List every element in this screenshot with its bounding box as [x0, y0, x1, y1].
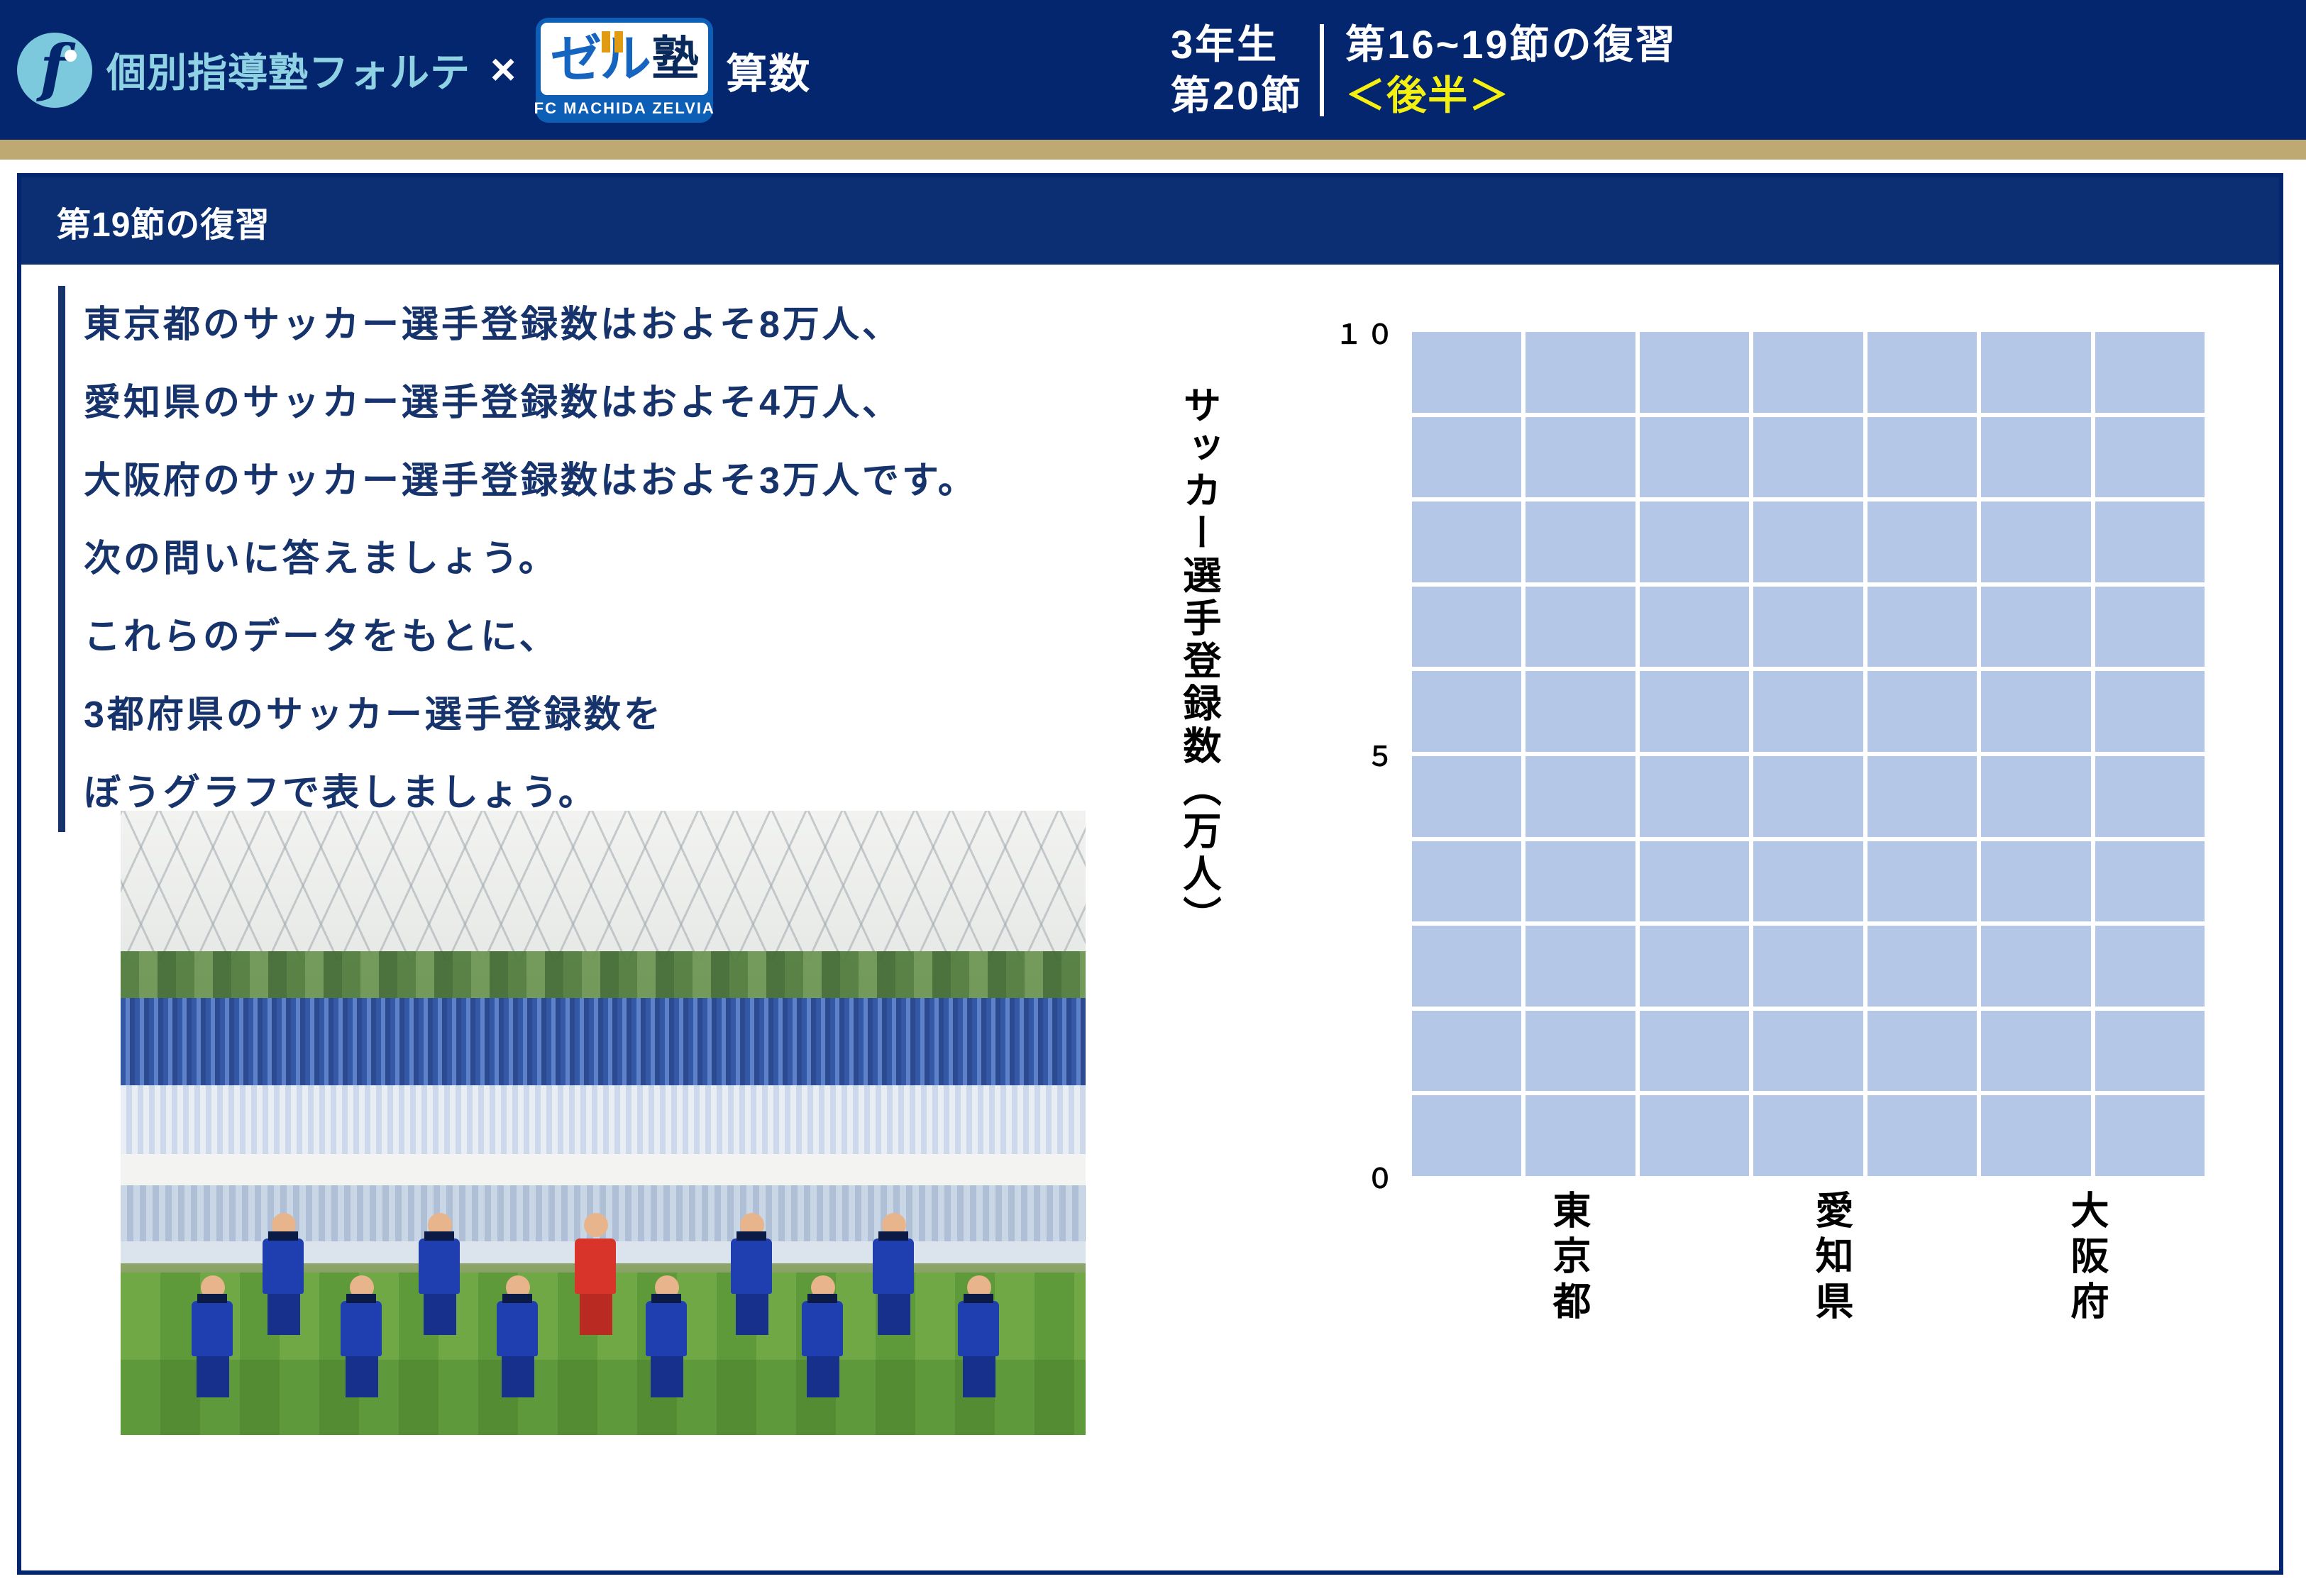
lesson-title: 第16~19節の復習	[1345, 19, 1677, 70]
grid-cell[interactable]	[1981, 671, 2090, 752]
photo-jersey-sponsor	[197, 1294, 227, 1303]
header-title-area: 3年生 第20節 第16~19節の復習 ＜後半＞	[1171, 0, 2306, 140]
grid-cell[interactable]	[1753, 671, 1863, 752]
grid-cell[interactable]	[1753, 841, 1863, 922]
grid-cell[interactable]	[1753, 332, 1863, 413]
photo-pitch-grass-foreground	[121, 1360, 1086, 1435]
photo-player-shorts	[736, 1294, 768, 1335]
grid-cell[interactable]	[1526, 756, 1635, 837]
grid-cell[interactable]	[1868, 501, 1977, 582]
grid-cell[interactable]	[1981, 756, 2090, 837]
photo-goalkeeper	[575, 1213, 617, 1335]
photo-player-jersey	[341, 1301, 382, 1356]
grid-cell[interactable]	[2095, 417, 2205, 498]
photo-player-jersey	[646, 1301, 687, 1356]
photo-player-shorts	[346, 1356, 378, 1397]
grid-cell[interactable]	[2095, 926, 2205, 1007]
grid-cell[interactable]	[1640, 1011, 1749, 1092]
lesson-subtitle: ＜後半＞	[1345, 70, 1677, 121]
subject-label: 算数	[726, 40, 811, 100]
grid-cell[interactable]	[1753, 1011, 1863, 1092]
photo-player-jersey	[497, 1301, 538, 1356]
zelvia-jyuku-text: 塾	[652, 35, 699, 82]
grid-cell[interactable]	[2095, 841, 2205, 922]
photo-player-jersey	[263, 1238, 304, 1294]
grid-cell[interactable]	[1981, 1011, 2090, 1092]
zelvia-kana-text: ゼル	[551, 33, 650, 84]
y-tick-label: １０	[1298, 313, 1398, 352]
grid-cell[interactable]	[1526, 587, 1635, 667]
photo-trees	[121, 951, 1086, 1001]
photo-player-shorts	[878, 1294, 910, 1335]
zelvia-logo: ゼル 塾 FC MACHIDA ZELVIA	[536, 18, 713, 123]
grid-cell[interactable]	[1640, 1095, 1749, 1176]
photo-jersey-sponsor	[807, 1294, 837, 1303]
section-label: 第20節	[1171, 70, 1303, 121]
left-column: 東京都のサッカー選手登録数はおよそ8万人、 愛知県のサッカー選手登録数はおよそ4…	[21, 265, 1128, 1570]
grid-cell[interactable]	[1981, 501, 2090, 582]
photo-jersey-sponsor	[346, 1294, 376, 1303]
grid-cell[interactable]	[1981, 587, 2090, 667]
photo-player-standing	[731, 1213, 773, 1335]
grade-section-block: 3年生 第20節	[1171, 19, 1320, 121]
photo-player-kneeling	[341, 1275, 383, 1397]
problem-text-line: 大阪府のサッカー選手登録数はおよそ3万人です。	[84, 442, 1108, 520]
photo-player-head	[584, 1213, 608, 1237]
card-title-bar: 第19節の復習	[21, 177, 2279, 265]
photo-player-kneeling	[646, 1275, 688, 1397]
photo-player-jersey	[575, 1238, 616, 1294]
photo-player-kneeling	[192, 1275, 234, 1397]
grid-cell[interactable]	[2095, 1095, 2205, 1176]
app-header: f 個別指導塾フォルテ × ゼル 塾 FC MACHIDA ZELVIA 算数 …	[0, 0, 2306, 140]
grid-cell[interactable]	[1412, 332, 1521, 413]
grid-cell[interactable]	[1868, 926, 1977, 1007]
grid-cell[interactable]	[1412, 1011, 1521, 1092]
grid-cell[interactable]	[2095, 501, 2205, 582]
grid-cell[interactable]	[1412, 926, 1521, 1007]
chart-x-axis-labels: 東京都 愛知県 大阪府	[1412, 1190, 2205, 1488]
photo-player-jersey	[731, 1238, 772, 1294]
grid-cell[interactable]	[1753, 417, 1863, 498]
photo-player-kneeling	[497, 1275, 539, 1397]
forte-f-glyph: f	[40, 36, 67, 99]
grid-cell[interactable]	[1412, 1095, 1521, 1176]
grid-cell[interactable]	[1753, 926, 1863, 1007]
zelvia-accent-tick-2	[614, 31, 623, 52]
grid-cell[interactable]	[1412, 756, 1521, 837]
chart-y-axis-label: サッカー選手登録数（万人）	[1149, 385, 1218, 938]
grid-cell[interactable]	[1640, 756, 1749, 837]
grid-cell[interactable]	[1640, 587, 1749, 667]
problem-text-line: これらのデータをもとに、	[84, 598, 1108, 676]
photo-jersey-sponsor	[424, 1231, 454, 1241]
photo-player-kneeling	[958, 1275, 1000, 1397]
grid-cell[interactable]	[1640, 332, 1749, 413]
grid-cell[interactable]	[1526, 926, 1635, 1007]
grid-cell[interactable]	[2095, 332, 2205, 413]
grid-cell[interactable]	[1868, 841, 1977, 922]
forte-dot-icon	[65, 50, 77, 62]
problem-text-line: 次の問いに答えましょう。	[84, 520, 1108, 598]
photo-jersey-sponsor	[737, 1231, 766, 1241]
grid-cell[interactable]	[1526, 332, 1635, 413]
grid-cell[interactable]	[1868, 1095, 1977, 1176]
lesson-title-block: 第16~19節の復習 ＜後半＞	[1345, 19, 1677, 121]
photo-player-standing	[263, 1213, 305, 1335]
photo-stadium-roof	[121, 811, 1086, 960]
grid-cell[interactable]	[2095, 756, 2205, 837]
grid-cell[interactable]	[1868, 417, 1977, 498]
problem-text-line: 愛知県のサッカー選手登録数はおよそ4万人、	[84, 364, 1108, 442]
photo-player-jersey	[419, 1238, 460, 1294]
x-tick-label: 大阪府	[2067, 1190, 2105, 1326]
grid-cell[interactable]	[1981, 1095, 2090, 1176]
photo-player-standing	[873, 1213, 915, 1335]
photo-player-shorts	[963, 1356, 995, 1397]
problem-text-line: 3都府県のサッカー選手登録数を	[84, 676, 1108, 754]
photo-jersey-sponsor	[651, 1294, 681, 1303]
grid-cell[interactable]	[1640, 417, 1749, 498]
x-tick-label: 東京都	[1549, 1190, 1587, 1326]
photo-player-shorts	[580, 1294, 612, 1335]
photo-player-shorts	[502, 1356, 534, 1397]
grid-cell[interactable]	[1640, 671, 1749, 752]
photo-player-kneeling	[802, 1275, 844, 1397]
chart-y-axis-ticks: １０ ５ ０	[1298, 265, 1398, 1570]
grid-cell[interactable]	[1412, 841, 1521, 922]
photo-player-jersey	[192, 1301, 233, 1356]
grade-label: 3年生	[1171, 19, 1303, 70]
photo-player-shorts	[267, 1294, 300, 1335]
zelvia-caption: FC MACHIDA ZELVIA	[534, 95, 715, 122]
photo-player-standing	[419, 1213, 461, 1335]
gold-accent-stripe	[0, 140, 2306, 160]
brand-lockup: f 個別指導塾フォルテ × ゼル 塾 FC MACHIDA ZELVIA 算数	[0, 0, 811, 140]
y-tick-label: ５	[1298, 735, 1398, 774]
grid-cell[interactable]	[1753, 1095, 1863, 1176]
grid-cell[interactable]	[1868, 1011, 1977, 1092]
grid-cell[interactable]	[1526, 501, 1635, 582]
grid-cell[interactable]	[1412, 417, 1521, 498]
card-title-text: 第19節の復習	[57, 196, 270, 246]
grid-cell[interactable]	[1868, 671, 1977, 752]
photo-jersey-sponsor	[268, 1231, 298, 1241]
problem-text-block: 東京都のサッカー選手登録数はおよそ8万人、 愛知県のサッカー選手登録数はおよそ4…	[58, 286, 1108, 832]
grid-cell[interactable]	[1640, 926, 1749, 1007]
photo-concourse	[121, 1154, 1086, 1185]
forte-brand-name: 個別指導塾フォルテ	[106, 41, 470, 99]
grid-cell[interactable]	[1753, 756, 1863, 837]
grid-cell[interactable]	[1526, 1011, 1635, 1092]
grid-cell[interactable]	[1526, 671, 1635, 752]
photo-player-shorts	[807, 1356, 839, 1397]
grid-cell[interactable]	[2095, 1011, 2205, 1092]
grid-cell[interactable]	[1753, 587, 1863, 667]
problem-text-line: 東京都のサッカー選手登録数はおよそ8万人、	[84, 286, 1108, 364]
grid-cell[interactable]	[2095, 587, 2205, 667]
grid-cell[interactable]	[1981, 841, 2090, 922]
x-tick-label: 愛知県	[1811, 1190, 1850, 1326]
bar-chart: サッカー選手登録数（万人） １０ ５ ０ 東京都 愛知県 大阪府	[1128, 265, 2282, 1570]
photo-roof-trusses	[121, 811, 1086, 960]
team-photo	[121, 811, 1086, 1435]
grid-cell[interactable]	[1753, 501, 1863, 582]
photo-player-shorts	[197, 1356, 229, 1397]
grid-cell[interactable]	[1412, 671, 1521, 752]
zelvia-logo-mark: ゼル 塾	[541, 23, 708, 95]
photo-player-jersey	[873, 1238, 914, 1294]
photo-upper-stand	[121, 998, 1086, 1085]
photo-player-jersey	[802, 1301, 843, 1356]
grid-cell[interactable]	[1981, 332, 2090, 413]
zelvia-accent-tick-1	[602, 31, 610, 52]
grid-cell[interactable]	[1981, 417, 2090, 498]
grid-cell[interactable]	[2095, 671, 2205, 752]
photo-jersey-sponsor	[878, 1231, 908, 1241]
grid-cell[interactable]	[1868, 332, 1977, 413]
grid-cell[interactable]	[1526, 417, 1635, 498]
header-divider	[1320, 24, 1324, 116]
grid-cell[interactable]	[1526, 1095, 1635, 1176]
grid-cell[interactable]	[1868, 756, 1977, 837]
grid-cell[interactable]	[1412, 501, 1521, 582]
photo-jersey-sponsor	[502, 1294, 532, 1303]
grid-cell[interactable]	[1640, 841, 1749, 922]
grid-cell[interactable]	[1868, 587, 1977, 667]
content-card: 第19節の復習 東京都のサッカー選手登録数はおよそ8万人、 愛知県のサッカー選手…	[17, 173, 2283, 1575]
photo-player-jersey	[958, 1301, 999, 1356]
grid-cell[interactable]	[1526, 841, 1635, 922]
chart-plot-grid[interactable]	[1412, 332, 2205, 1176]
grid-cell[interactable]	[1981, 926, 2090, 1007]
photo-jersey-sponsor	[964, 1294, 993, 1303]
photo-mid-stand	[121, 1085, 1086, 1154]
grid-cell[interactable]	[1640, 501, 1749, 582]
y-tick-label: ０	[1298, 1157, 1398, 1196]
photo-player-shorts	[424, 1294, 456, 1335]
forte-logo-icon: f	[17, 33, 92, 108]
photo-player-shorts	[651, 1356, 683, 1397]
cross-icon: ×	[490, 48, 516, 92]
grid-cell[interactable]	[1412, 587, 1521, 667]
